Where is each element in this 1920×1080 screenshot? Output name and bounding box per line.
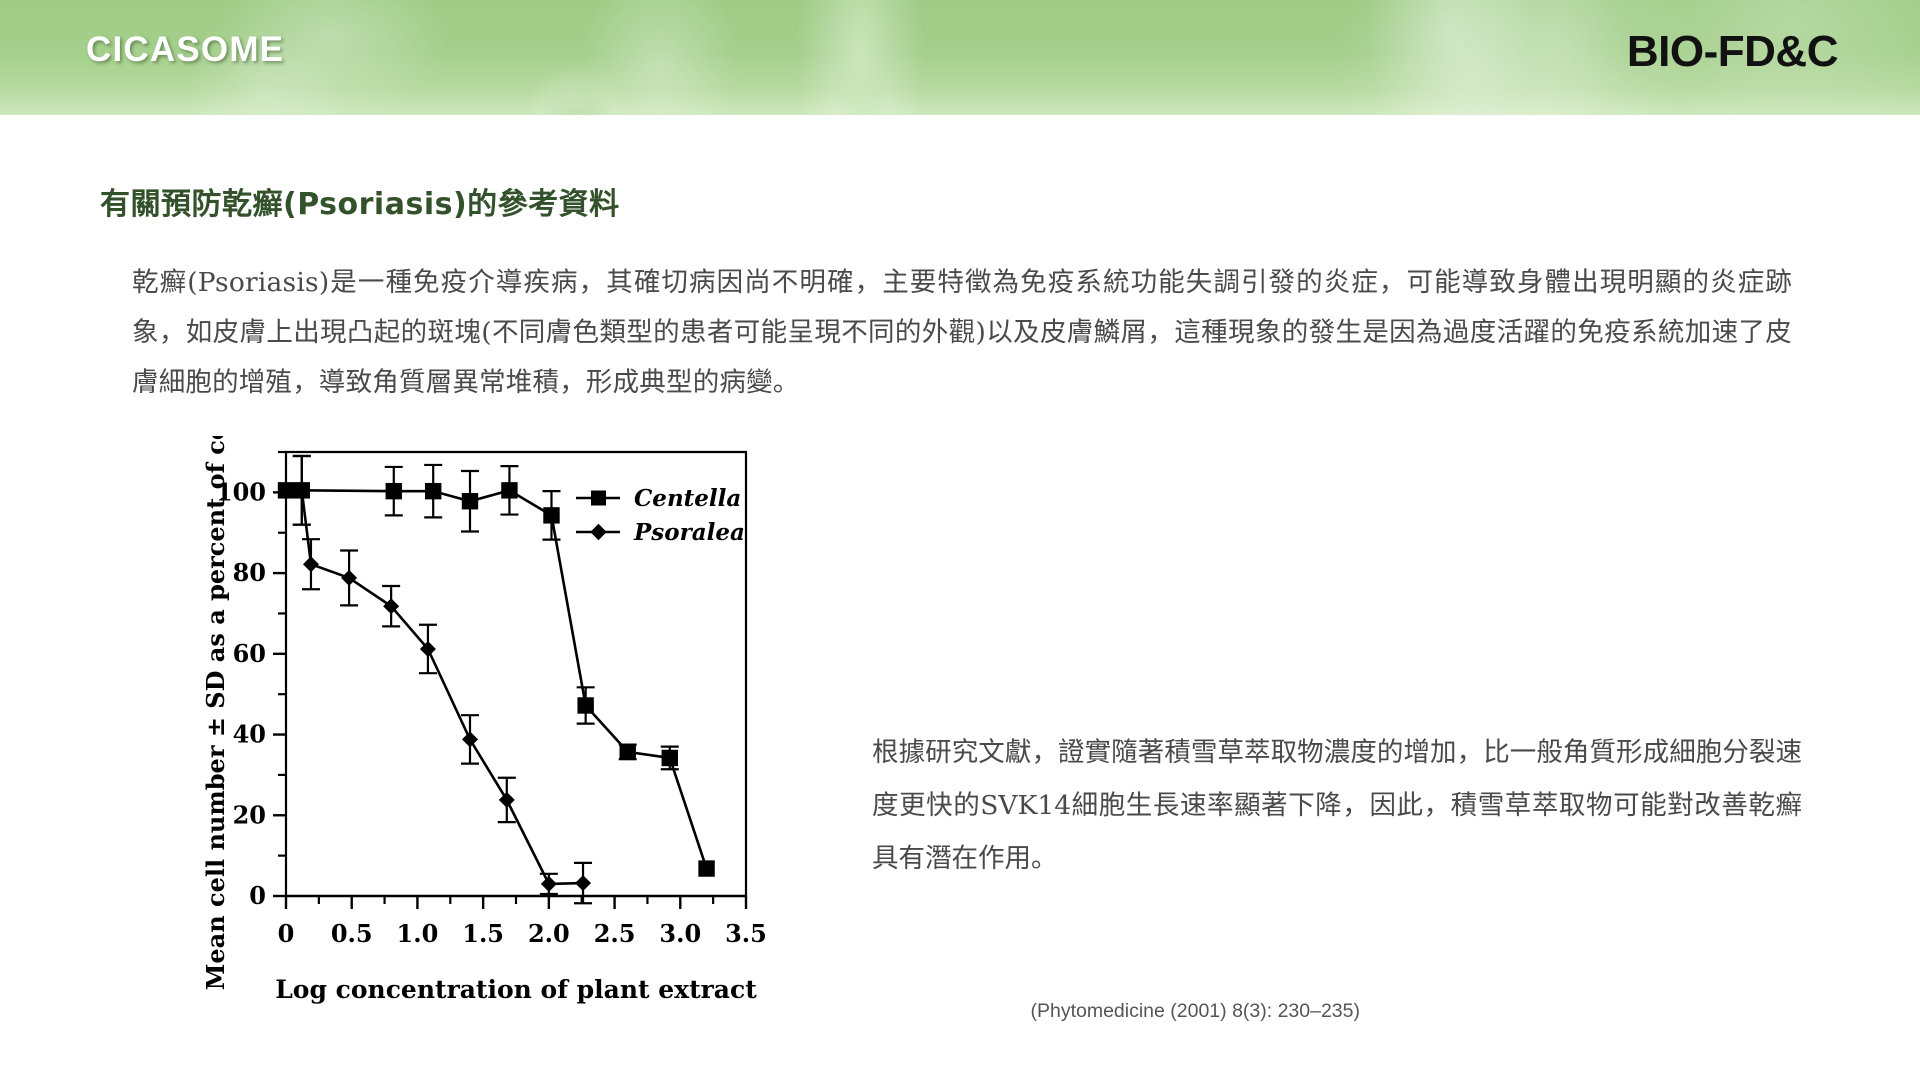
legend-item-psoralea: Psoralea bbox=[576, 519, 745, 546]
data-point-diamond bbox=[499, 792, 515, 808]
data-point-square bbox=[620, 744, 636, 760]
x-tick-label: 0.5 bbox=[331, 919, 373, 948]
page-header: CICASOME BIO-FD&C bbox=[0, 0, 1920, 115]
page-title: 有關預防乾癬(Psoriasis)的參考資料 bbox=[100, 179, 620, 223]
data-point-square bbox=[462, 493, 478, 509]
data-point-diamond bbox=[541, 876, 557, 892]
data-point-diamond bbox=[303, 556, 319, 572]
data-point-diamond bbox=[341, 570, 357, 586]
y-tick-label: 80 bbox=[233, 558, 266, 587]
y-axis-title: Mean cell number ± SD as a percent of co… bbox=[201, 436, 230, 990]
x-tick-label: 0 bbox=[278, 919, 295, 948]
data-point-diamond bbox=[462, 731, 478, 747]
y-tick-label: 60 bbox=[233, 639, 266, 668]
x-tick-label: 3.0 bbox=[659, 919, 701, 948]
x-tick-label: 1.5 bbox=[462, 919, 504, 948]
data-point-square bbox=[501, 482, 517, 498]
legend-item-centella: Centella bbox=[576, 485, 741, 512]
legend-label: Centella bbox=[634, 485, 741, 512]
dose-response-chart: 02040608010000.51.01.52.02.53.03.5Centel… bbox=[198, 436, 778, 1056]
legend-label: Psoralea bbox=[633, 519, 745, 546]
data-point-diamond bbox=[575, 875, 591, 891]
series-line bbox=[286, 490, 583, 884]
intro-paragraph: 乾癬(Psoriasis)是一種免疫介導疾病，其確切病因尚不明確，主要特徵為免疫… bbox=[132, 258, 1792, 408]
x-axis-title: Log concentration of plant extract bbox=[275, 975, 757, 1004]
y-tick-label: 40 bbox=[233, 720, 266, 749]
data-point-square bbox=[543, 507, 559, 523]
x-tick-label: 2.0 bbox=[528, 919, 570, 948]
header-texture-2 bbox=[1330, 0, 1630, 115]
source-citation: (Phytomedicine (2001) 8(3): 230–235) bbox=[1030, 1000, 1360, 1023]
data-point-square bbox=[386, 483, 402, 499]
data-point-square bbox=[662, 750, 678, 766]
legend-marker-diamond bbox=[590, 524, 606, 540]
brand-logo-biofdc: BIO-FD&C bbox=[1627, 27, 1838, 77]
data-point-square bbox=[698, 860, 714, 876]
header-texture-1 bbox=[580, 0, 740, 115]
x-tick-label: 3.5 bbox=[725, 919, 767, 948]
y-tick-label: 20 bbox=[233, 800, 266, 829]
series-line bbox=[286, 490, 707, 868]
data-point-square bbox=[577, 697, 593, 713]
chart-canvas: 02040608010000.51.01.52.02.53.03.5Centel… bbox=[198, 436, 778, 1056]
x-tick-label: 1.0 bbox=[397, 919, 439, 948]
y-tick-label: 0 bbox=[249, 881, 266, 910]
legend-marker-square bbox=[591, 491, 606, 506]
brand-logo-cicasome: CICASOME bbox=[86, 30, 284, 70]
commentary-paragraph: 根據研究文獻，證實隨著積雪草萃取物濃度的增加，比一般角質形成細胞分裂速度更快的S… bbox=[872, 726, 1802, 885]
x-tick-label: 2.5 bbox=[594, 919, 636, 948]
data-point-square bbox=[425, 483, 441, 499]
